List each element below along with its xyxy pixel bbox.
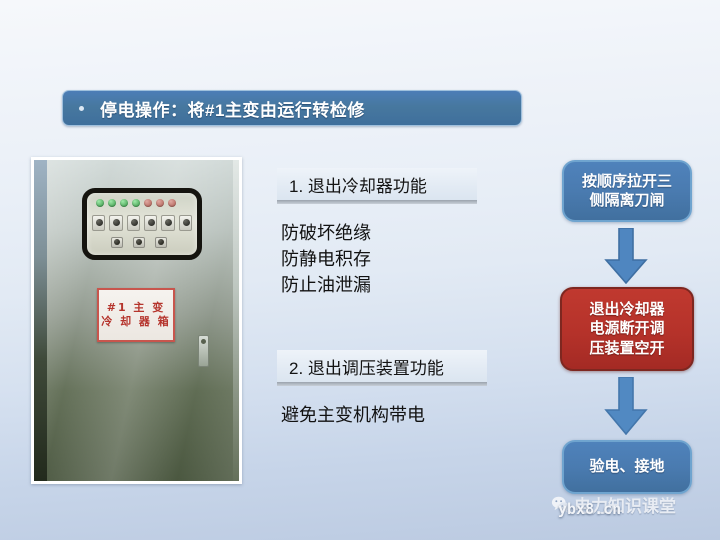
photo-right-edge <box>233 160 239 481</box>
lamp-red-icon <box>144 199 152 207</box>
flow-step-2: 退出冷却器 电源断开调 压装置空开 <box>560 287 694 371</box>
lamp-green-icon <box>108 199 116 207</box>
lamp-green-icon <box>120 199 128 207</box>
lamp-red-icon <box>168 199 176 207</box>
flow-step-2-line-2: 电源断开调 <box>589 319 664 338</box>
rotary-switch-icon <box>109 215 122 231</box>
section-1-line-2: 防静电积存 <box>281 246 371 272</box>
indicator-lamp-row <box>96 199 188 207</box>
rotary-switch-icon <box>179 215 192 231</box>
rotary-switch-icon <box>92 215 105 231</box>
control-panel-window <box>82 188 202 260</box>
section-2-heading: 2. 退出调压装置功能 <box>277 350 487 382</box>
slide-title-text: 停电操作：将#1主变由运行转检修 <box>100 96 365 121</box>
lamp-green-icon <box>96 199 104 207</box>
flow-step-1: 按顺序拉开三 侧隔离刀闸 <box>562 160 692 222</box>
lamp-green-icon <box>132 199 140 207</box>
section-1-line-3: 防止油泄漏 <box>281 272 371 298</box>
arrow-down-icon <box>603 228 649 284</box>
cabinet-door-handle <box>198 335 209 367</box>
cabinet-nameplate: #1 主 变 冷 却 器 箱 <box>97 288 175 342</box>
cabinet-photo-frame: #1 主 变 冷 却 器 箱 <box>31 157 242 484</box>
flow-step-3: 验电、接地 <box>562 440 692 494</box>
flow-step-1-line-1: 按顺序拉开三 <box>582 172 672 191</box>
rotary-switch-icon <box>161 215 174 231</box>
flow-step-2-line-1: 退出冷却器 <box>589 300 664 319</box>
slide-canvas: 停电操作：将#1主变由运行转检修 <box>0 0 720 540</box>
section-1-heading-text: 1. 退出冷却器功能 <box>289 172 427 197</box>
rotary-switch-icon <box>127 215 140 231</box>
nameplate-line-1: #1 主 变 <box>107 302 166 314</box>
bullet-dot-icon <box>79 106 84 111</box>
rotary-switch-icon <box>155 237 167 248</box>
lamp-red-icon <box>156 199 164 207</box>
switch-row-lower <box>111 237 173 248</box>
site-url-watermark: ybx8.cn <box>558 500 621 518</box>
section-2-line-1: 避免主变机构带电 <box>281 402 425 428</box>
rotary-switch-icon <box>111 237 123 248</box>
section-1-heading: 1. 退出冷却器功能 <box>277 168 477 200</box>
cabinet-photo: #1 主 变 冷 却 器 箱 <box>34 160 239 481</box>
photo-left-edge <box>34 160 47 481</box>
section-2-heading-text: 2. 退出调压装置功能 <box>289 354 444 379</box>
slide-title-banner: 停电操作：将#1主变由运行转检修 <box>62 90 522 126</box>
switch-row-upper <box>92 215 192 231</box>
flow-step-3-line-1: 验电、接地 <box>589 457 664 476</box>
rotary-switch-icon <box>133 237 145 248</box>
nameplate-line-2: 冷 却 器 箱 <box>101 316 171 328</box>
section-1-line-1: 防破坏绝缘 <box>281 220 371 246</box>
arrow-down-icon <box>603 377 649 435</box>
section-2-body: 避免主变机构带电 <box>281 402 425 428</box>
rotary-switch-icon <box>144 215 157 231</box>
section-1-body: 防破坏绝缘 防静电积存 防止油泄漏 <box>281 220 371 298</box>
flow-step-1-line-2: 侧隔离刀闸 <box>589 191 664 210</box>
flow-step-2-line-3: 压装置空开 <box>589 339 664 358</box>
